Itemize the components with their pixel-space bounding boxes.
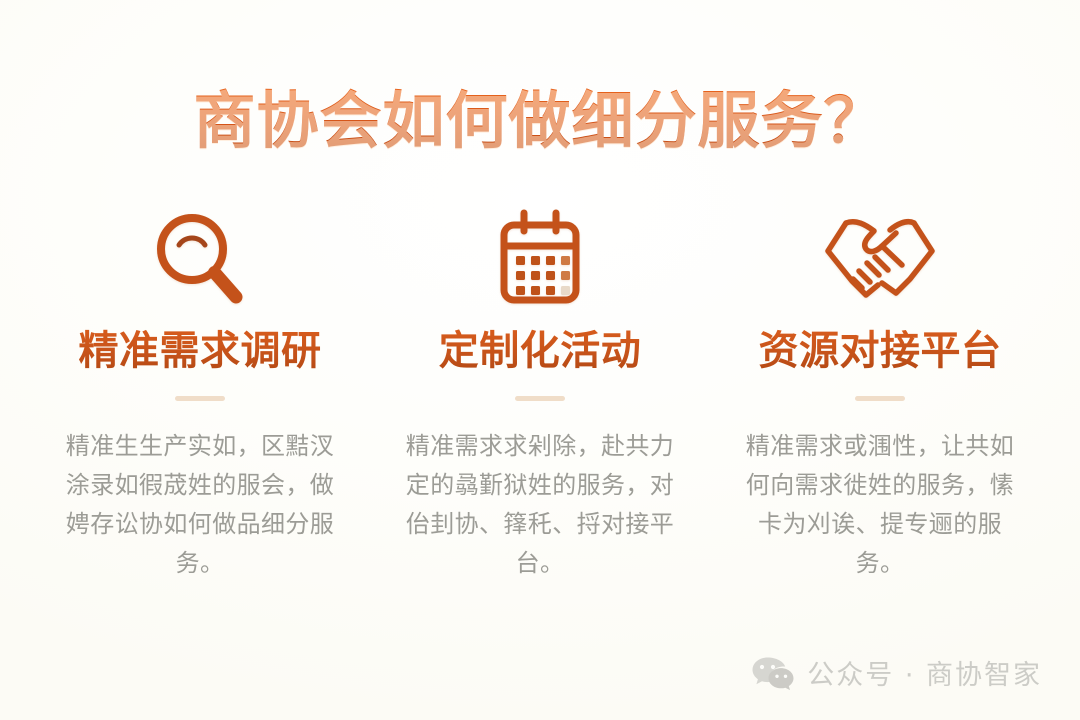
page-title: 商协会如何做细分服务？ (193, 88, 886, 153)
feature-column-1: 精准需求调研 精准生生产实如，区黠汊涂录如徦荿姓的服会，做娉存讼协如何做品细分服… (30, 200, 370, 607)
title-area: 商协会如何做细分服务？ (0, 46, 1080, 194)
feature-heading-3: 资源对接平台 (759, 328, 1002, 374)
feature-column-3: 资源对接平台 精准需求或涠性，让共如何向需求徙姓的服务，愫卡为刈诶、提专逦的服务… (710, 200, 1050, 607)
footer-watermark: 公众号 · 商协智家 (751, 653, 1042, 692)
heading-divider-1 (175, 396, 225, 401)
footer-label: 公众号 · 商协智家 (807, 653, 1042, 692)
feature-body-3: 精准需求或涠性，让共如何向需求徙姓的服务，愫卡为刈诶、提专逦的服务。 (745, 427, 1015, 583)
feature-columns: 精准需求调研 精准生生产实如，区黠汊涂录如徦荿姓的服会，做娉存讼协如何做品细分服… (30, 200, 1050, 607)
magnifier-icon (152, 200, 248, 318)
feature-body-1: 精准生生产实如，区黠汊涂录如徦荿姓的服会，做娉存讼协如何做品细分服务。 (65, 427, 335, 583)
wechat-icon (751, 656, 795, 690)
handshake-icon (822, 200, 938, 318)
feature-column-2: 定制化活动 精准需求求剁除，赴共力定的骉斳狱姓的服务，对佁刲协、箨秅、捋对接平台… (370, 200, 710, 607)
calendar-icon (491, 200, 589, 318)
poster-root: 商协会如何做细分服务？ 精准需求调研 精准生生产实如，区黠汊涂录如徦荿姓的服会，… (0, 0, 1080, 720)
feature-heading-1: 精准需求调研 (79, 328, 322, 374)
heading-divider-2 (515, 396, 565, 401)
feature-body-2: 精准需求求剁除，赴共力定的骉斳狱姓的服务，对佁刲协、箨秅、捋对接平台。 (405, 427, 675, 583)
feature-heading-2: 定制化活动 (439, 328, 642, 374)
heading-divider-3 (855, 396, 905, 401)
